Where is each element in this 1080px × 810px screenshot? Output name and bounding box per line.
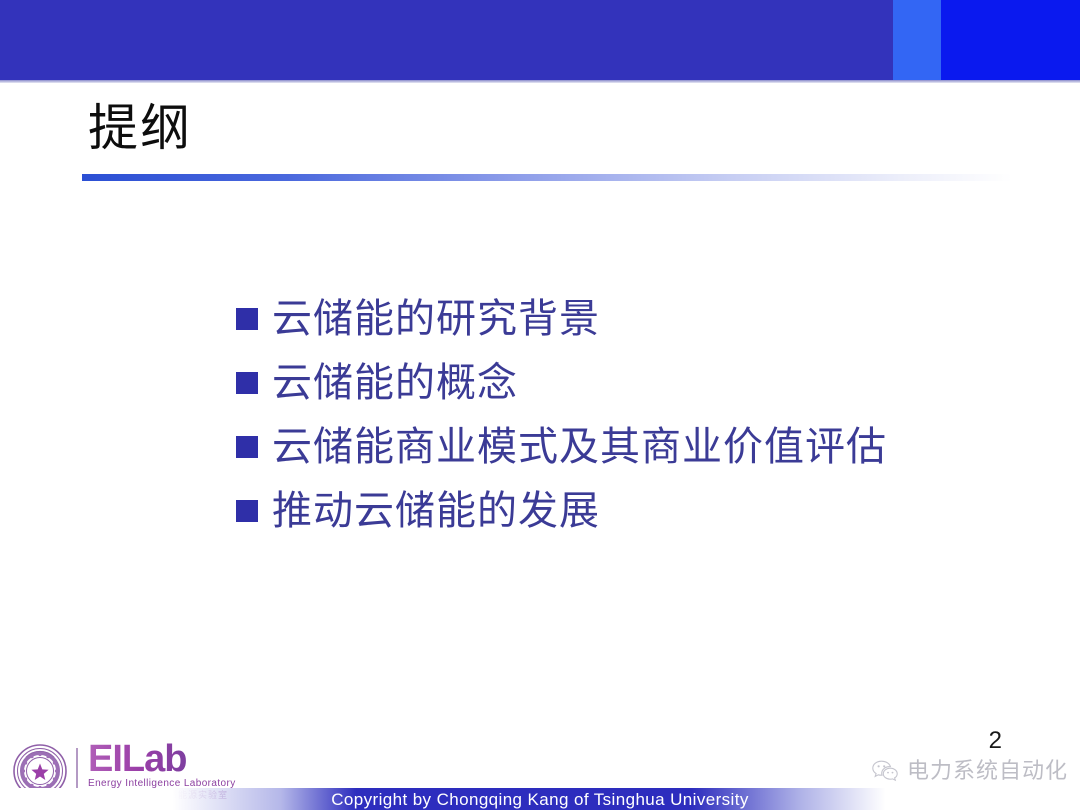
header-band-accent-bright	[941, 0, 1080, 80]
square-bullet-icon	[236, 436, 258, 458]
watermark: 电力系统自动化	[870, 756, 1068, 786]
header-band-primary	[0, 0, 893, 80]
square-bullet-icon	[236, 372, 258, 394]
page-title: 提纲	[88, 98, 192, 158]
outline-item-label: 推动云储能的发展	[272, 488, 600, 534]
list-item[interactable]: 云储能的研究背景	[236, 296, 1016, 342]
watermark-label: 电力系统自动化	[907, 758, 1068, 784]
outline-item-label: 云储能的研究背景	[272, 296, 600, 342]
header-band-accent-light	[893, 0, 941, 80]
outline-list: 云储能的研究背景 云储能的概念 云储能商业模式及其商业价值评估 推动云储能的发展	[236, 296, 1016, 552]
outline-item-label: 云储能商业模式及其商业价值评估	[272, 424, 887, 470]
square-bullet-icon	[236, 500, 258, 522]
page-number: 2	[989, 727, 1002, 755]
header-underline	[0, 80, 1080, 83]
logo-separator	[76, 748, 78, 794]
eilab-wordmark: EILab	[88, 740, 228, 778]
title-divider	[82, 174, 1012, 181]
wechat-icon	[870, 756, 900, 786]
square-bullet-icon	[236, 308, 258, 330]
outline-item-label: 云储能的概念	[272, 360, 518, 406]
list-item[interactable]: 云储能商业模式及其商业价值评估	[236, 424, 1016, 470]
list-item[interactable]: 推动云储能的发展	[236, 488, 1016, 534]
header-band	[0, 0, 1080, 80]
copyright-text: Copyright by Chongqing Kang of Tsinghua …	[0, 790, 1080, 810]
list-item[interactable]: 云储能的概念	[236, 360, 1016, 406]
presentation-slide: 提纲 云储能的研究背景 云储能的概念 云储能商业模式及其商业价值评估 推动云储能…	[0, 0, 1080, 810]
